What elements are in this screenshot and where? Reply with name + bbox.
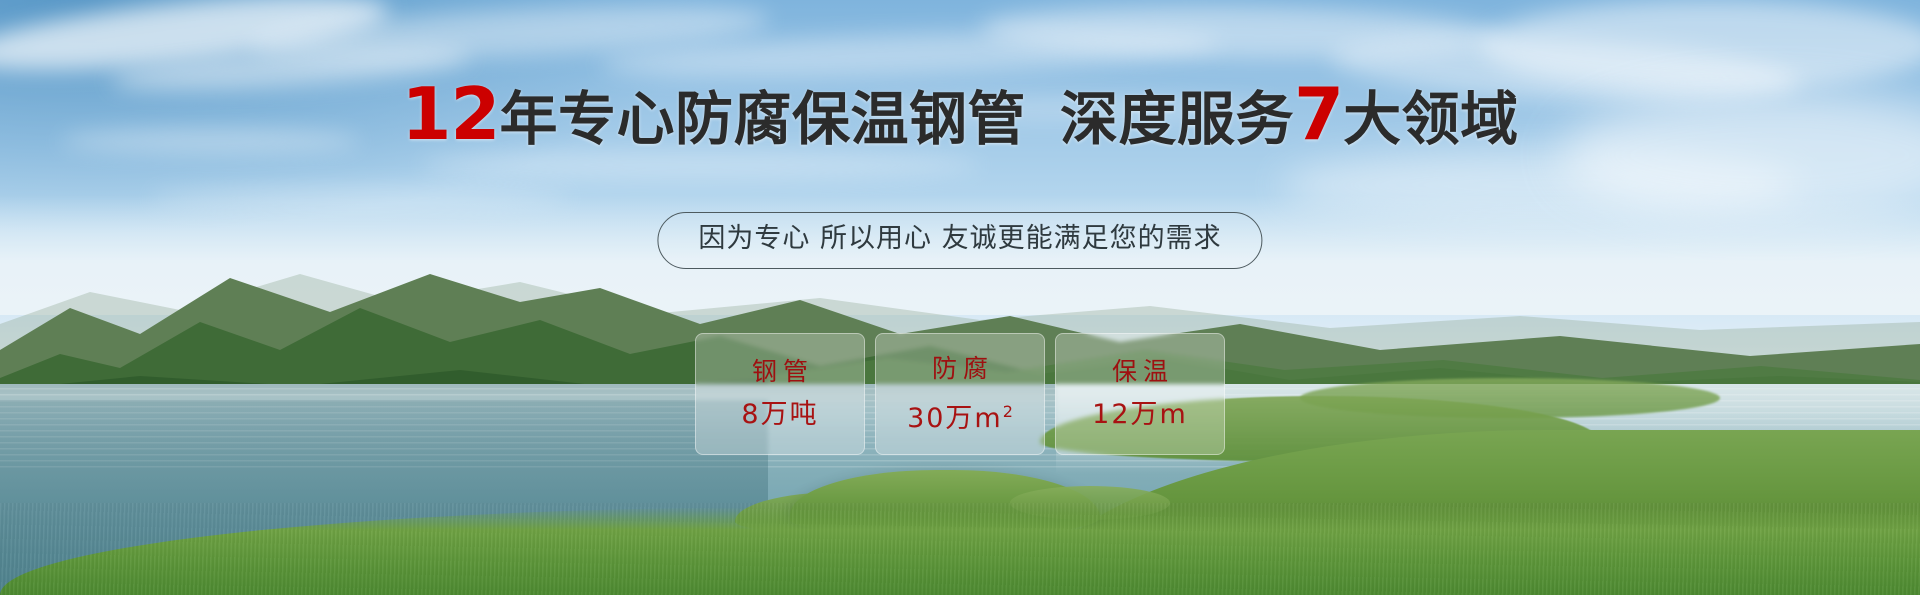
stat-card-title: 钢管 xyxy=(746,358,814,386)
stat-card-anticorrosion: 防腐 30万m2 xyxy=(875,333,1045,455)
headline: 12年专心防腐保温钢管深度服务7大领域 xyxy=(0,82,1920,151)
stat-card-group: 钢管 8万吨 防腐 30万m2 保温 12万m xyxy=(695,333,1225,455)
headline-part-2: 深度服务 xyxy=(1060,85,1294,153)
stat-card-title: 保温 xyxy=(1106,358,1174,386)
stat-card-insulation: 保温 12万m xyxy=(1055,333,1225,455)
headline-fields-number: 7 xyxy=(1294,72,1343,156)
stat-card-value-text: 30万m xyxy=(907,403,1003,434)
stat-card-value: 12万m xyxy=(1092,400,1188,430)
headline-years-number: 12 xyxy=(401,72,499,156)
stat-card-value-text: 8万吨 xyxy=(741,399,818,430)
subtitle-pill: 因为专心 所以用心 友诚更能满足您的需求 xyxy=(657,212,1262,269)
banner-content: 12年专心防腐保温钢管深度服务7大领域 因为专心 所以用心 友诚更能满足您的需求… xyxy=(0,0,1920,595)
stat-card-value-superscript: 2 xyxy=(1003,402,1013,421)
stat-card-value: 8万吨 xyxy=(741,400,818,430)
headline-part-1: 年专心防腐保温钢管 xyxy=(500,85,1027,153)
stat-card-title: 防腐 xyxy=(926,355,994,383)
stat-card-steel-pipe: 钢管 8万吨 xyxy=(695,333,865,455)
stat-card-value: 30万m2 xyxy=(907,397,1013,434)
stat-card-value-text: 12万m xyxy=(1092,399,1188,430)
promo-banner: 12年专心防腐保温钢管深度服务7大领域 因为专心 所以用心 友诚更能满足您的需求… xyxy=(0,0,1920,595)
headline-part-3: 大领域 xyxy=(1343,85,1519,153)
